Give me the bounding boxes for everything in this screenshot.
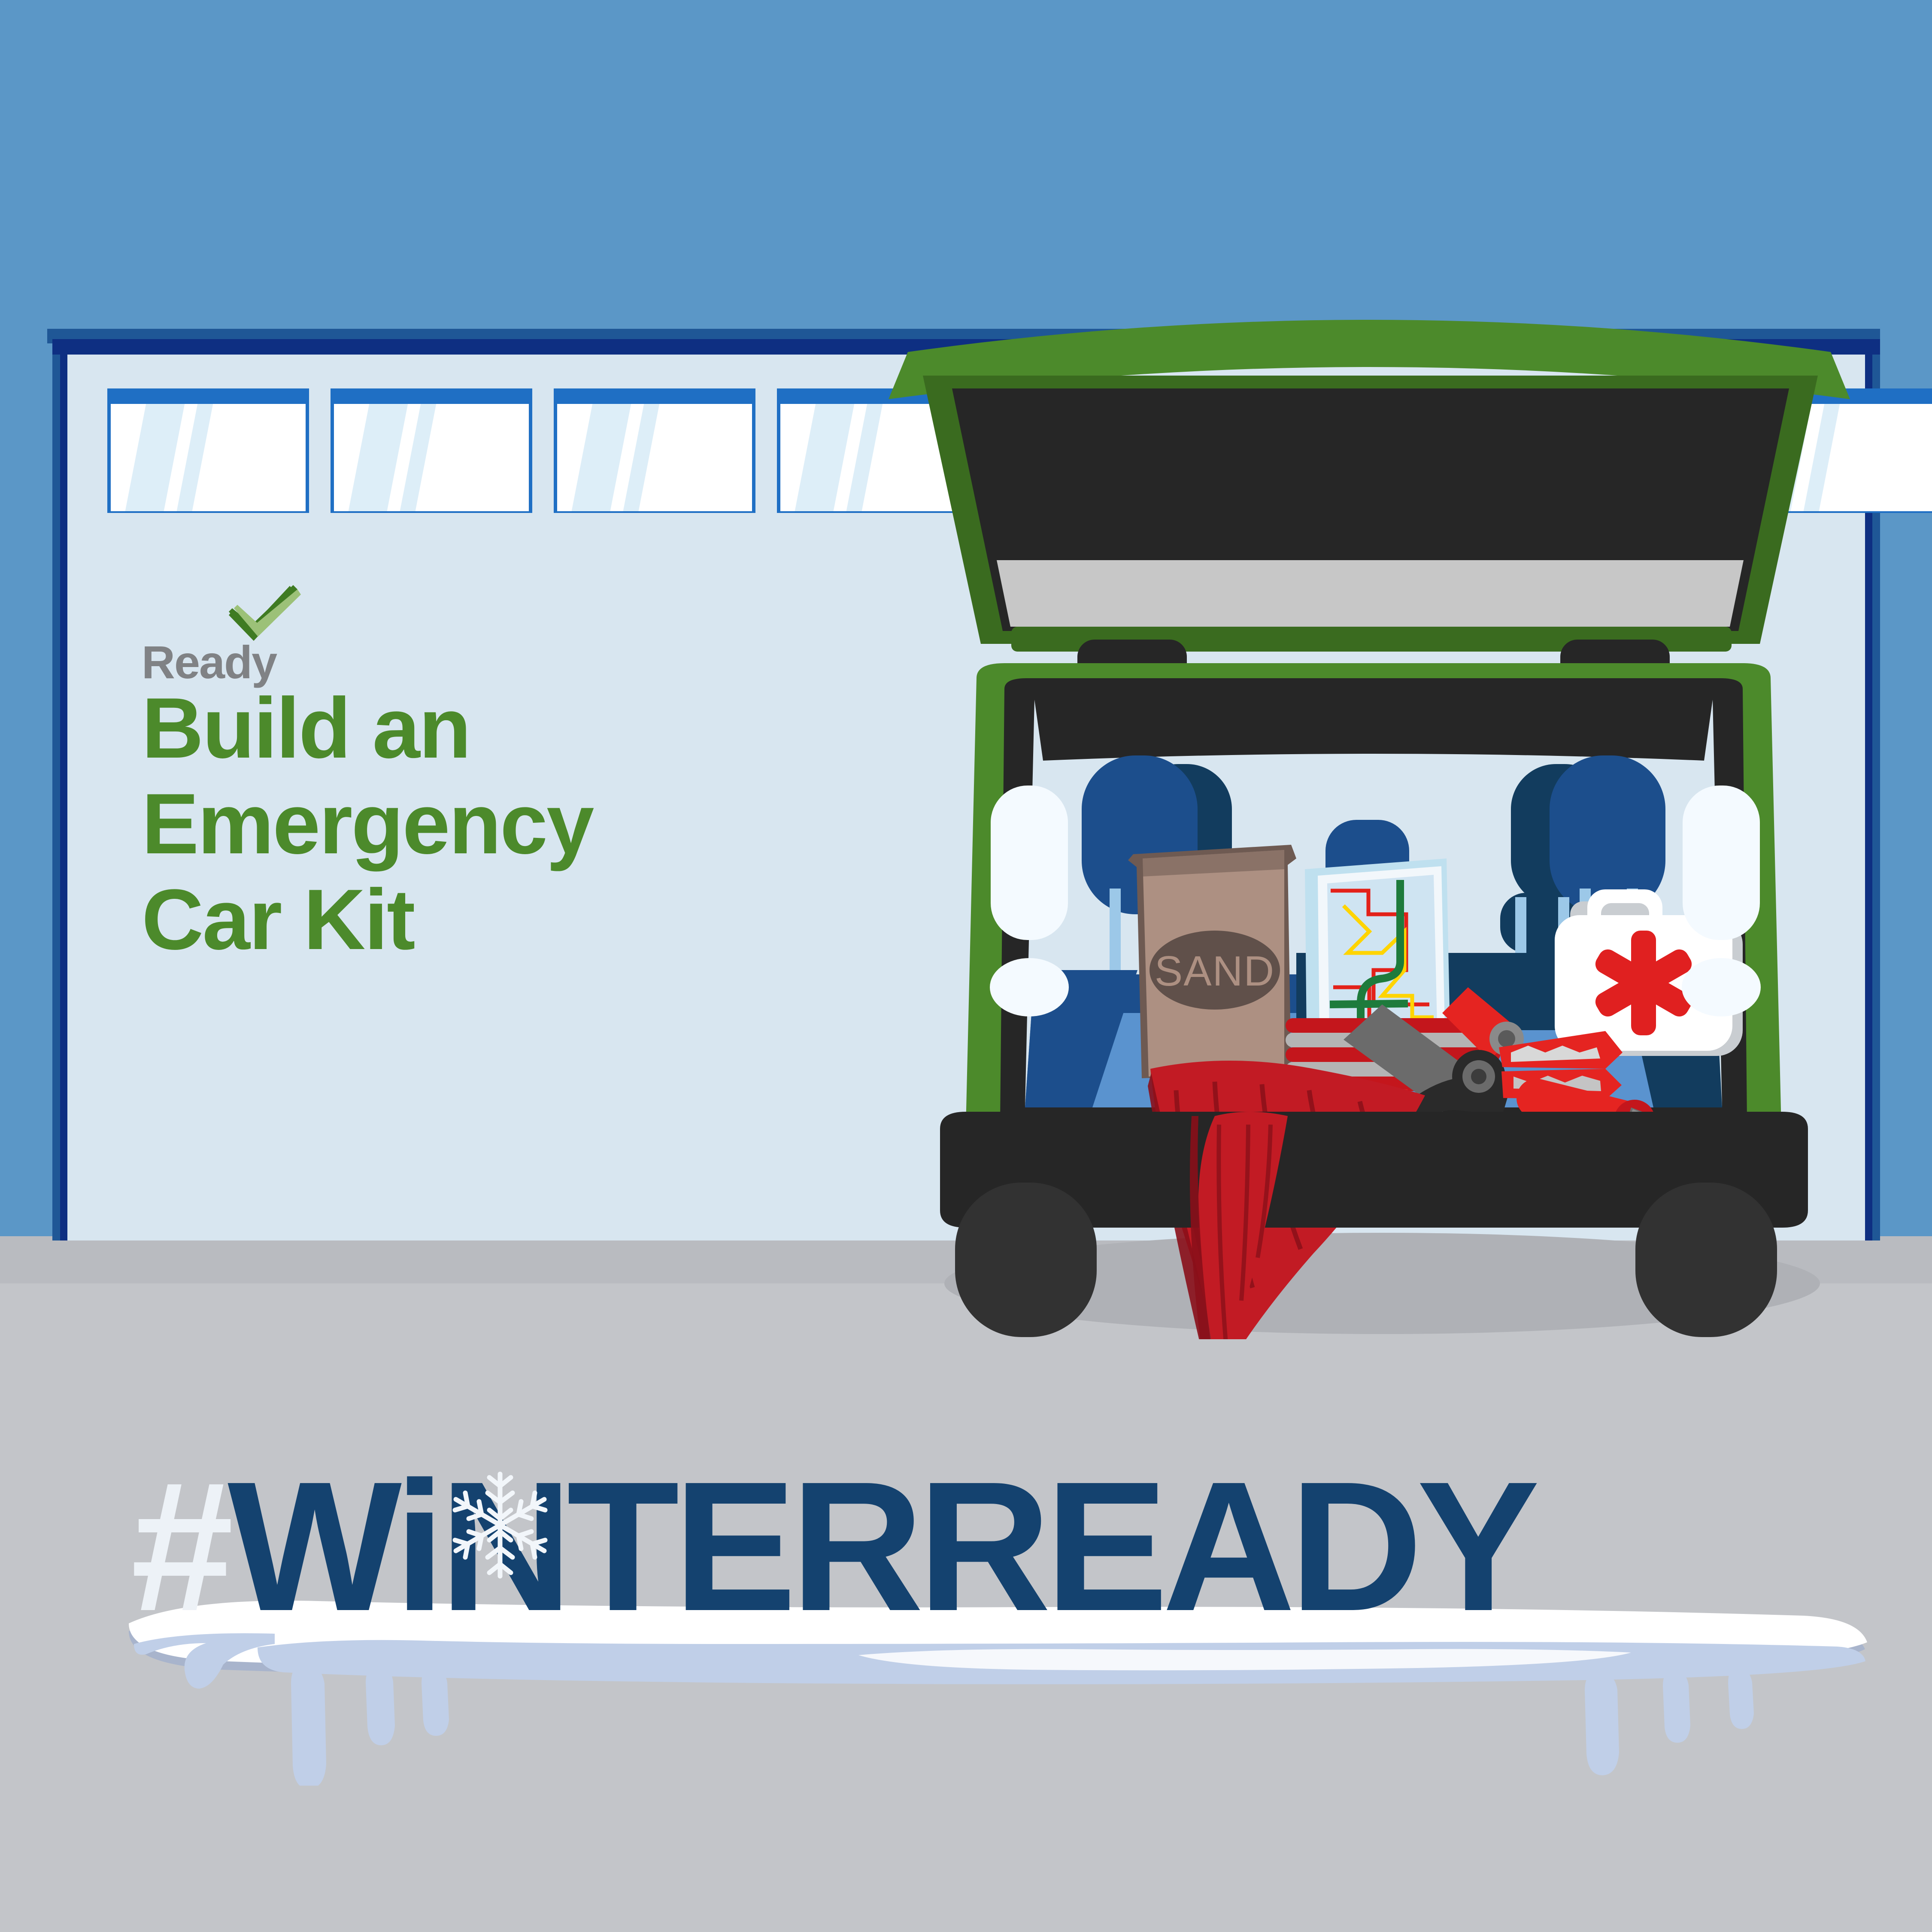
snow-icicle-6 bbox=[1728, 1668, 1754, 1729]
wheel-right bbox=[1635, 1183, 1777, 1337]
ready-logo: Ready bbox=[142, 582, 348, 689]
garage-window-pane bbox=[331, 388, 532, 513]
window-glass bbox=[557, 404, 752, 511]
headline-line-1: Build an bbox=[142, 680, 850, 776]
green-hatchback-car: SAND bbox=[876, 300, 1871, 1341]
poster-canvas: Ready Build an Emergency Car Kit bbox=[0, 0, 1932, 1932]
headline-line-2: Emergency bbox=[142, 776, 850, 872]
garage-window-pane bbox=[554, 388, 755, 513]
snowflake-icon bbox=[446, 1467, 554, 1583]
taillight-left bbox=[990, 786, 1069, 1016]
snow-icicle-2 bbox=[366, 1666, 395, 1745]
glass-streak bbox=[789, 404, 858, 511]
hashtag-winterready: #WiNTERREADY bbox=[131, 1454, 1534, 1639]
hash-symbol: # bbox=[131, 1444, 227, 1650]
hashtag-section: #WiNTERREADY bbox=[0, 1429, 1932, 1786]
snow-icicle-5 bbox=[1663, 1671, 1690, 1743]
sand-bag-item: SAND bbox=[1128, 845, 1296, 1078]
interior-headliner bbox=[1034, 700, 1713, 761]
snow-icicle-3 bbox=[422, 1668, 449, 1736]
window-glass bbox=[334, 404, 529, 511]
hashtag-text: WiNTERREADY bbox=[227, 1444, 1534, 1650]
hatch-lower-panel bbox=[997, 560, 1744, 627]
page-title: Build an Emergency Car Kit bbox=[142, 680, 850, 968]
sand-bag-label-text: SAND bbox=[1155, 947, 1275, 995]
snow-icicle-1 bbox=[291, 1665, 326, 1786]
wheel-left bbox=[955, 1183, 1097, 1337]
glass-streak bbox=[343, 404, 411, 511]
snow-icicle-4 bbox=[1585, 1672, 1619, 1775]
glass-streak bbox=[566, 404, 634, 511]
garage-window-pane bbox=[107, 388, 309, 513]
window-glass bbox=[111, 404, 306, 511]
headline-line-3: Car Kit bbox=[142, 872, 850, 968]
glass-streak bbox=[119, 404, 188, 511]
taillight-right bbox=[1682, 786, 1761, 1016]
car-illustration: SAND bbox=[876, 300, 1871, 1339]
